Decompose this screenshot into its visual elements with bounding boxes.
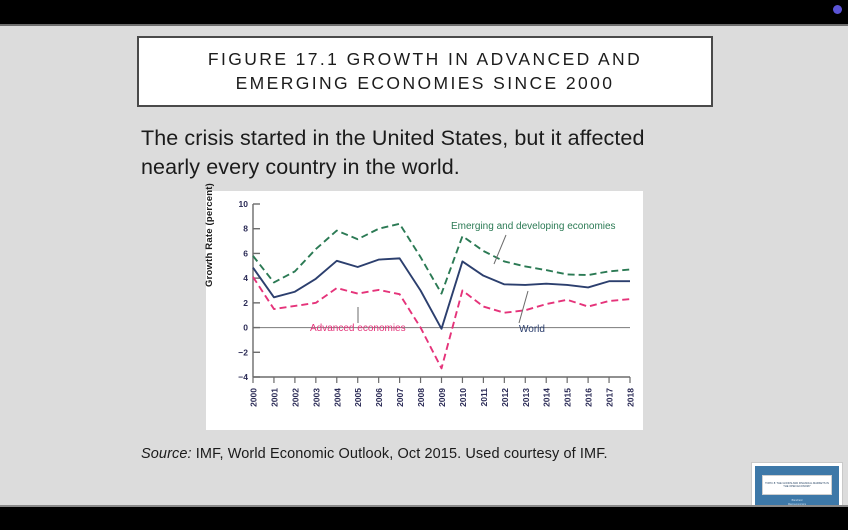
svg-text:2012: 2012 [500,388,510,407]
svg-text:2002: 2002 [290,388,300,407]
svg-text:2010: 2010 [458,388,468,407]
svg-text:World: World [519,324,545,335]
source-text: IMF, World Economic Outlook, Oct 2015. U… [192,446,608,462]
svg-text:Advanced economies: Advanced economies [310,323,406,334]
svg-text:Emerging and developing econom: Emerging and developing economies [451,221,616,232]
svg-text:2014: 2014 [542,388,552,407]
svg-text:2013: 2013 [521,388,531,407]
svg-text:2016: 2016 [584,388,594,407]
svg-text:−4: −4 [238,372,248,382]
chart-plot-area: Growth Rate (percent) 1086420−2−42000200… [206,191,643,430]
page-title: FIGURE 17.1 GROWTH IN ADVANCED AND EMERG… [139,48,711,94]
svg-text:2003: 2003 [311,388,321,407]
y-axis-title: Growth Rate (percent) [204,183,215,287]
svg-text:2006: 2006 [374,388,384,407]
svg-text:2011: 2011 [479,388,489,407]
svg-text:0: 0 [243,323,248,333]
svg-text:2001: 2001 [269,388,279,407]
svg-text:2008: 2008 [416,388,426,407]
chart-svg: 1086420−2−420002001200220032004200520062… [206,191,643,430]
recording-indicator-dot[interactable] [833,5,842,14]
svg-text:2000: 2000 [249,388,259,407]
svg-text:2018: 2018 [626,388,636,407]
slide-body-text: The crisis started in the United States,… [141,124,701,181]
bottom-letterbox-bar [0,507,848,530]
source-line: Source: IMF, World Economic Outlook, Oct… [141,446,608,462]
svg-text:2: 2 [243,298,248,308]
top-letterbox-bar [0,0,848,24]
svg-text:2017: 2017 [605,388,615,407]
slide-canvas: FIGURE 17.1 GROWTH IN ADVANCED AND EMERG… [0,0,848,530]
svg-text:2007: 2007 [395,388,405,407]
svg-text:4: 4 [243,273,248,283]
svg-text:2005: 2005 [353,388,363,407]
svg-text:8: 8 [243,224,248,234]
svg-text:2009: 2009 [437,388,447,407]
chart-figure: Growth Rate (percent) 1086420−2−42000200… [206,191,643,430]
source-label: Source: [141,446,192,462]
svg-text:6: 6 [243,248,248,258]
thumbnail-title: TOPIC 8: THE GOODS AND FINANCIAL MARKETS… [762,475,832,495]
top-bar-edge [0,24,848,26]
figure-title-box: FIGURE 17.1 GROWTH IN ADVANCED AND EMERG… [137,36,713,107]
svg-text:2004: 2004 [332,388,342,407]
svg-text:−2: −2 [238,347,248,357]
svg-text:10: 10 [239,199,249,209]
svg-text:2015: 2015 [563,388,573,407]
